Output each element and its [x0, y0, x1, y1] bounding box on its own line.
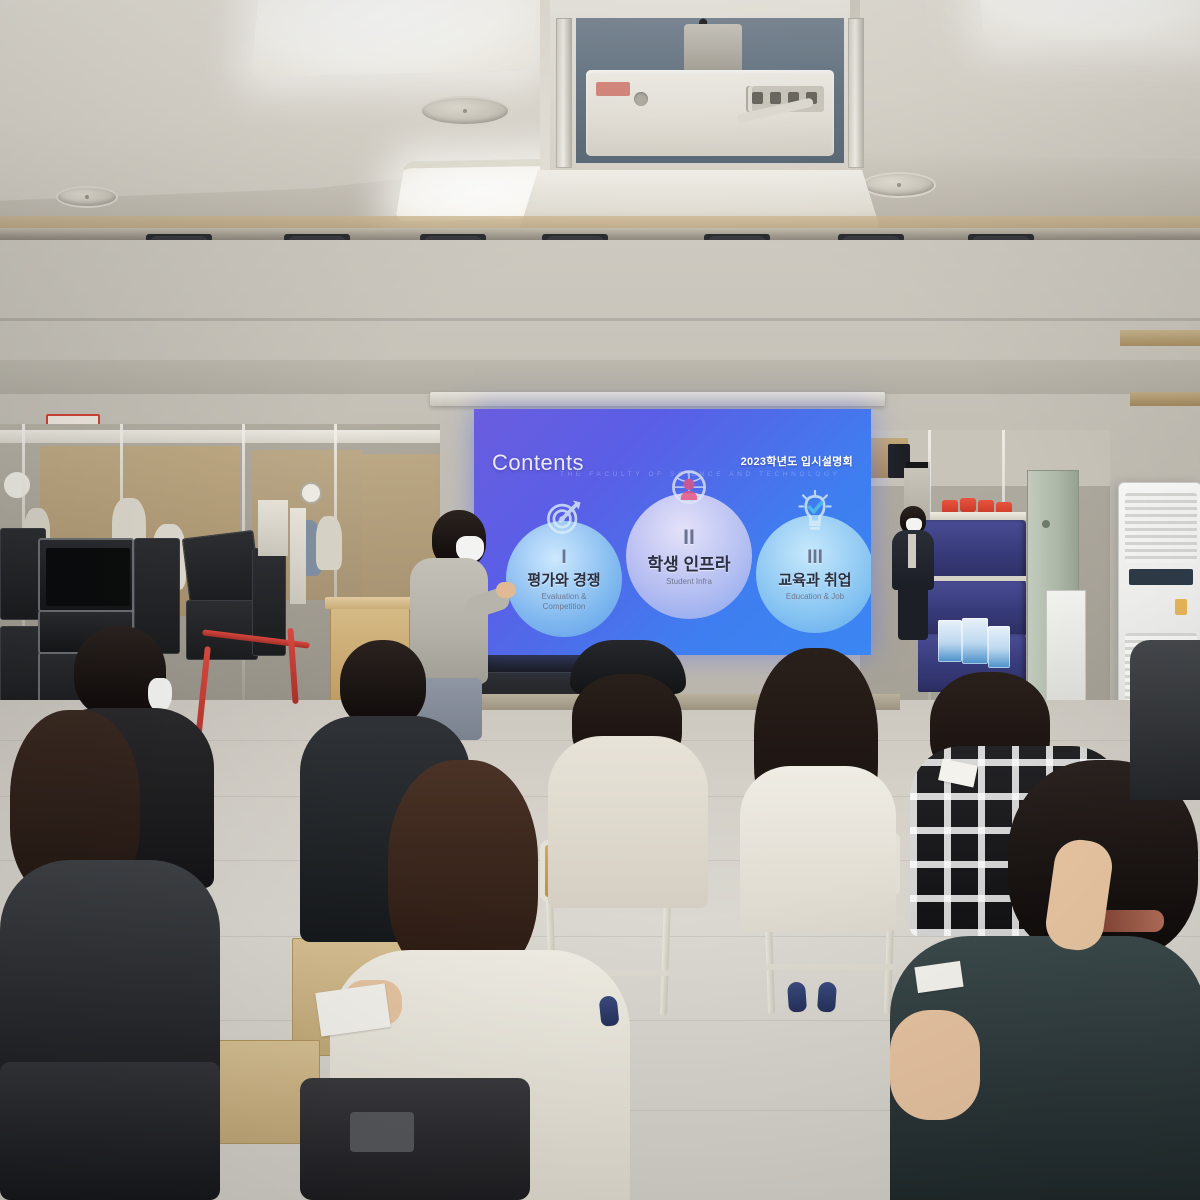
ceiling-speaker-icon: [56, 186, 118, 208]
lift-cavity: [576, 18, 844, 163]
projector-lift: [540, 0, 860, 180]
item-numeral: II: [683, 526, 695, 550]
item-title-en-line2: Competition: [543, 602, 586, 612]
audience-member: [740, 648, 890, 898]
slipper: [817, 981, 837, 1012]
ac-vent-grill: [1125, 493, 1197, 563]
item-numeral: III: [807, 547, 823, 569]
audience-member: [1130, 640, 1200, 800]
water-box: [962, 618, 988, 664]
wall-beam: [0, 360, 1200, 394]
equipment-rack: [38, 538, 134, 612]
lift-rail: [556, 18, 572, 168]
staff-shirt: [908, 534, 916, 568]
slipper: [787, 981, 807, 1012]
water-box: [988, 626, 1010, 668]
item-title-ko: 평가와 경쟁: [527, 569, 600, 590]
slide-event-badge: 2023학년도 입시설명회: [741, 453, 853, 469]
wall-shelf: [1130, 392, 1200, 406]
contents-item-1: I 평가와 경쟁 Evaluation & Competition: [506, 521, 622, 637]
ceiling-speaker-icon: [420, 96, 510, 126]
ceiling-panel-light: [976, 0, 1200, 40]
stacked-mat: [960, 498, 976, 512]
staff-member: [890, 506, 936, 642]
item-title-en-line1: Education & Job: [786, 592, 844, 602]
projector-mount: [684, 24, 742, 74]
water-box: [938, 620, 962, 662]
ac-warning-label: [1175, 599, 1187, 615]
torso: [0, 860, 220, 1080]
face-mask: [148, 678, 172, 712]
projected-slide: Contents THE FACULTY OF SCIENCE AND TECH…: [474, 409, 871, 655]
item-numeral: I: [561, 547, 566, 569]
contents-item-3: III 교육과 취업 Education & Job: [756, 515, 871, 633]
lightbulb-check-icon: [793, 489, 837, 533]
item-title-ko: 교육과 취업: [778, 569, 851, 590]
contents-item-2: II 학생 인프라 Student Infra: [626, 493, 752, 619]
mirror-ceiling-reflection: [0, 430, 440, 443]
wall-shelf: [1120, 330, 1200, 346]
ceiling-panel-light: [251, 0, 542, 78]
bag: [300, 1078, 530, 1200]
ac-display-panel: [1129, 569, 1193, 585]
head: [340, 640, 426, 728]
projector-lens-knob: [634, 92, 648, 106]
projector-body: [586, 70, 834, 156]
screen-housing: [430, 392, 885, 406]
folded-table: [258, 500, 288, 556]
hair: [388, 760, 538, 980]
lift-rail: [848, 18, 864, 168]
folded-table: [290, 508, 306, 604]
bag: [0, 1062, 220, 1200]
target-dart-icon: [542, 495, 586, 539]
photo-scene: Contents THE FACULTY OF SCIENCE AND TECH…: [0, 0, 1200, 1200]
torso: [740, 766, 896, 932]
slipper: [598, 995, 619, 1027]
cabinet-handle[interactable]: [1042, 520, 1050, 528]
wall-clock-icon: [300, 482, 322, 504]
bag-pocket: [350, 1112, 414, 1152]
presenter-hand: [496, 582, 516, 598]
rack-monitor: [46, 548, 130, 606]
audience-member: [548, 640, 698, 890]
student-person-icon: [667, 467, 711, 511]
audience-member: [0, 710, 210, 1010]
projector-port: [770, 92, 781, 104]
wall-seam: [0, 318, 1200, 321]
chair-rack-shelf: [930, 512, 1026, 520]
ceiling-speaker-icon: [862, 172, 936, 198]
item-title-en-line1: Evaluation &: [542, 592, 587, 602]
mirror-reflected-person: [316, 516, 342, 570]
torso: [1130, 640, 1200, 800]
item-title-en-line1: Student Infra: [666, 577, 712, 587]
projector-brand-label: [596, 82, 630, 96]
projector-port: [752, 92, 763, 104]
wall-clock-icon: [2, 470, 32, 500]
item-title-ko: 학생 인프라: [648, 550, 731, 575]
knee: [890, 1010, 980, 1120]
staff-legs: [898, 586, 928, 640]
torso: [548, 736, 708, 908]
